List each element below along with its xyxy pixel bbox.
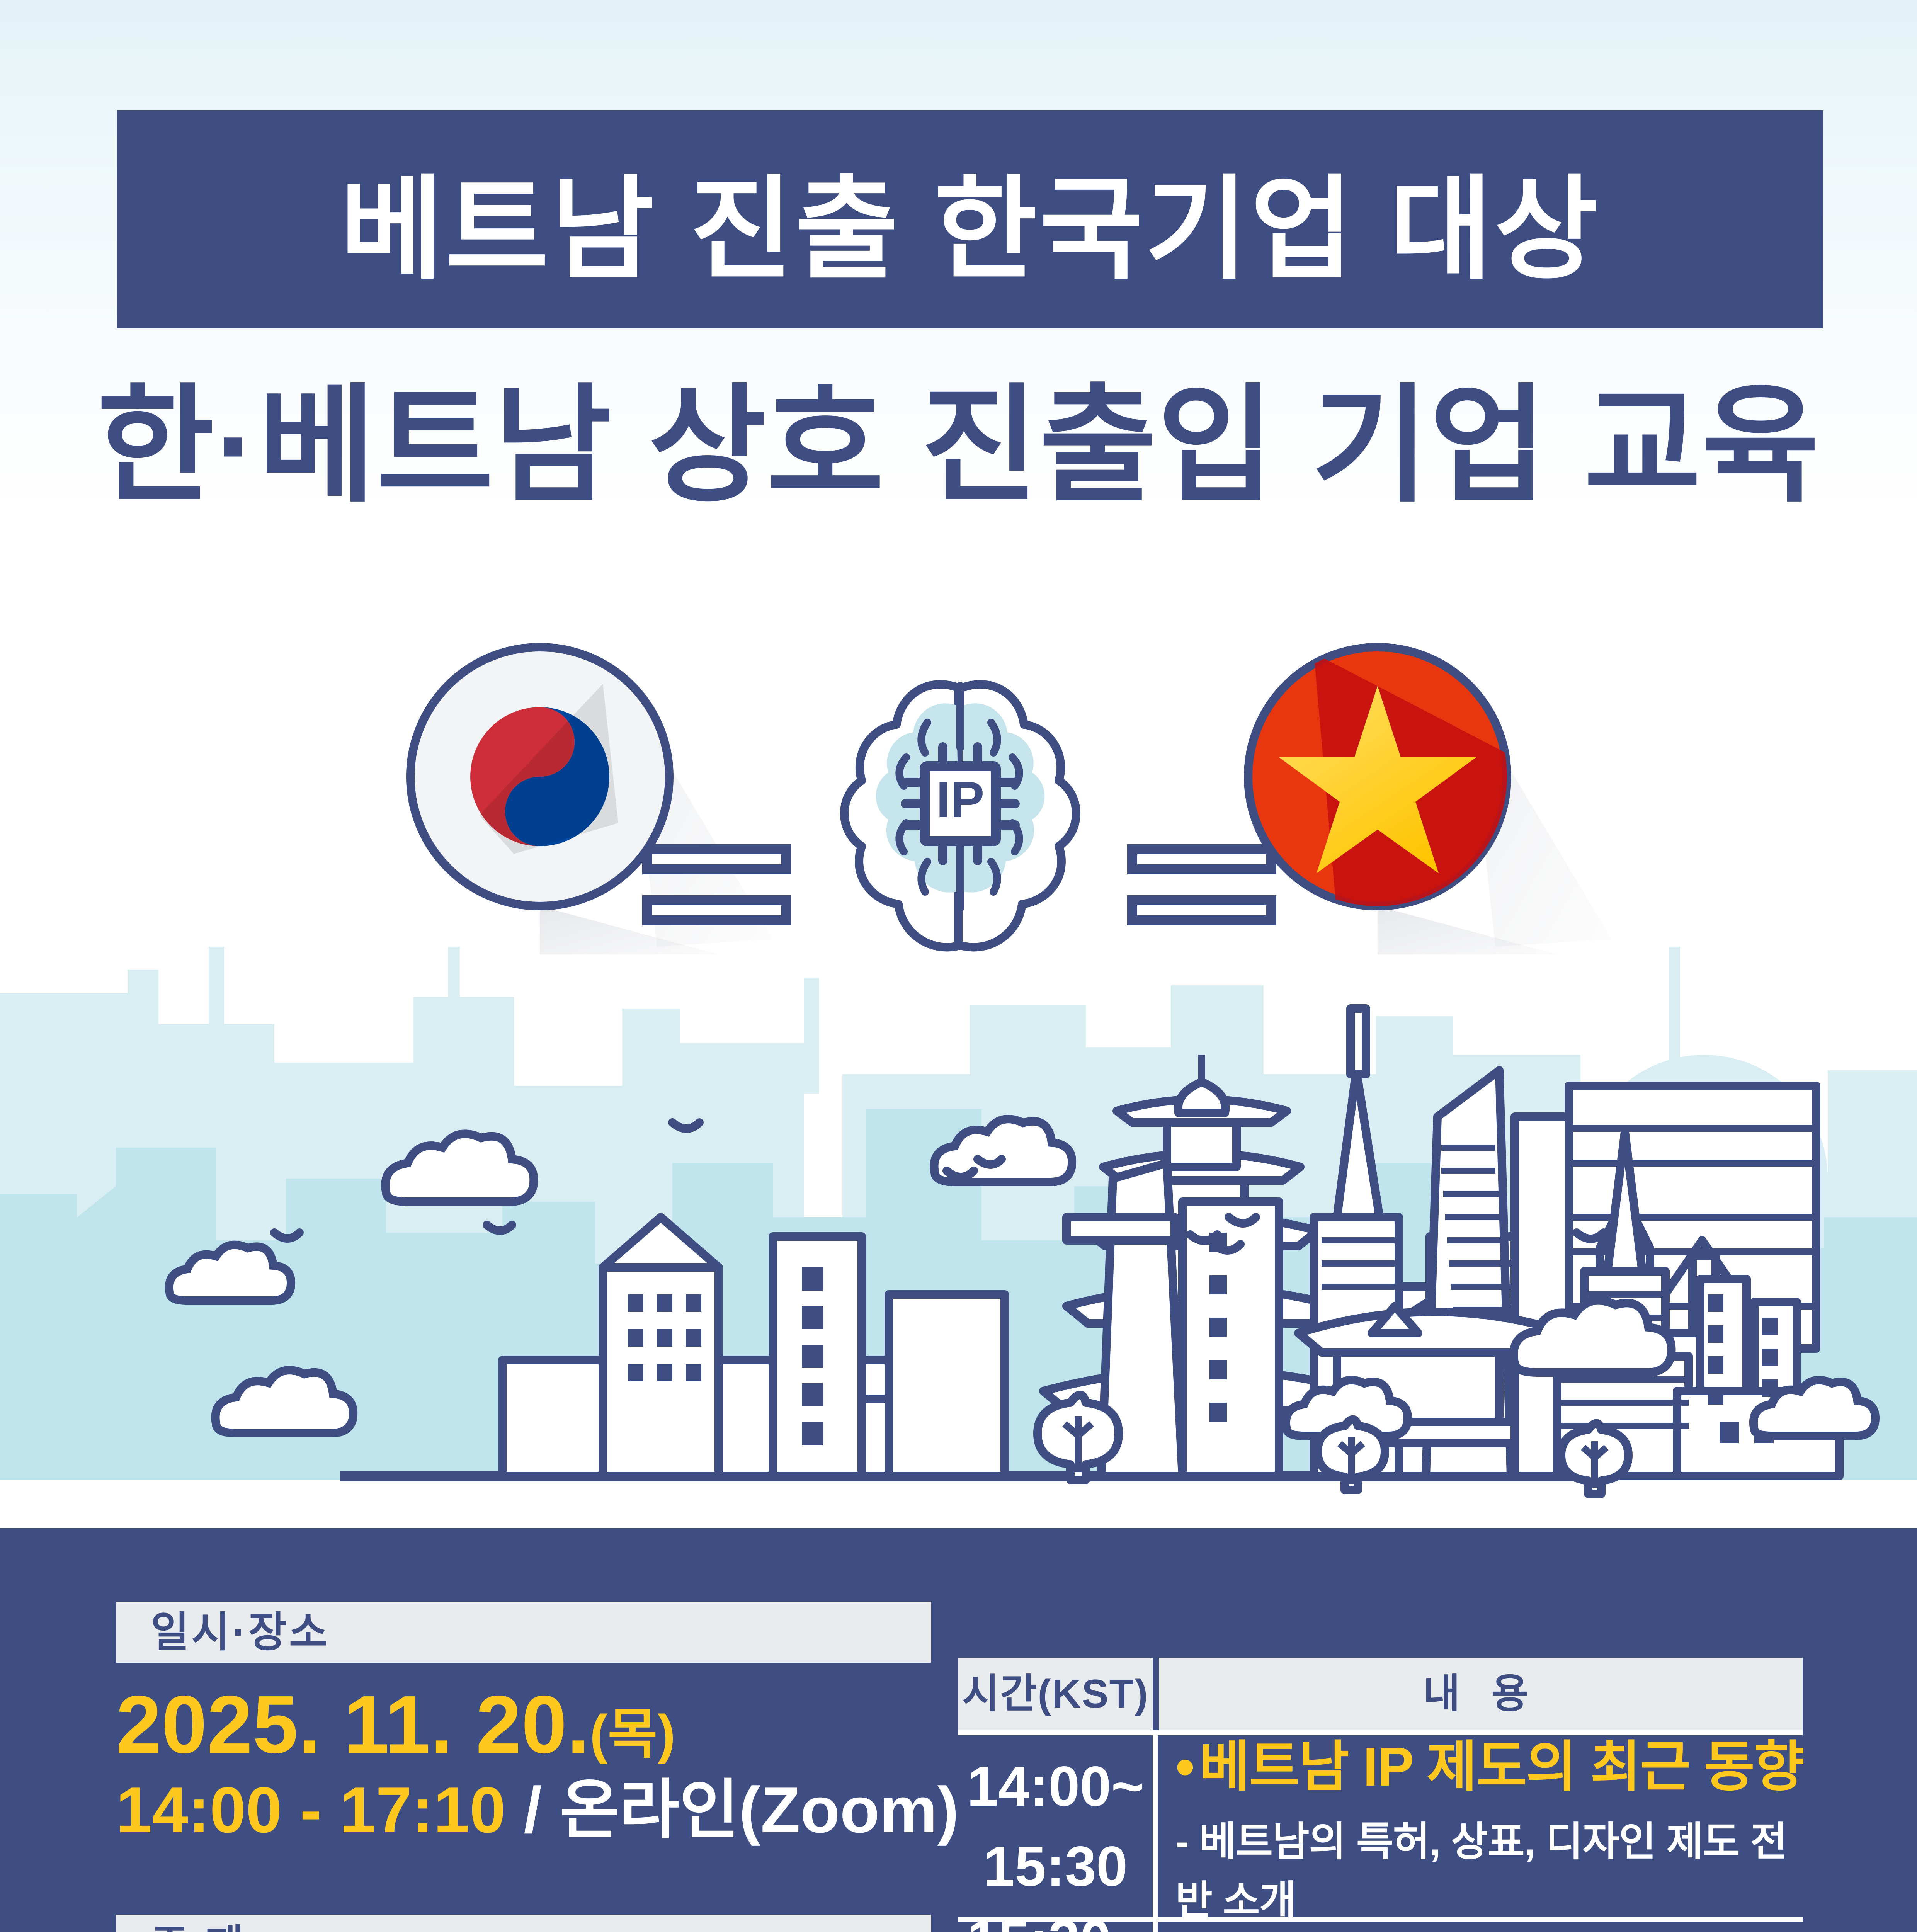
info-panel: 일시·장소 2025. 11. 20.(목) 14:00 - 17:10 / 온… [0, 1528, 1917, 1932]
left-info-column: 일시·장소 2025. 11. 20.(목) 14:00 - 17:10 / 온… [116, 1602, 931, 1932]
row1-session-detail: - 베트남의 특허, 상표, 디자인 제도 전반 소개 [1175, 1813, 1804, 1930]
event-time-place: 14:00 - 17:10 / 온라인(Zoom) [116, 1771, 931, 1849]
table-row: 15:30~ 15:40 휴 식 [958, 1922, 1803, 1932]
column-header-content: 내 용 [1159, 1658, 1803, 1730]
event-place-value: 온라인(Zoom) [560, 1774, 959, 1846]
ip-chip-icon: IP [905, 747, 1015, 861]
korea-taegeuk-flag-circle-icon [410, 647, 669, 906]
label-datetime-place: 일시·장소 [116, 1602, 931, 1663]
time-place-separator: / [524, 1774, 542, 1846]
row2-content: 휴 식 [1158, 1922, 1803, 1932]
label-topic: 주 제 [116, 1915, 931, 1932]
hero-illustration: IP [0, 607, 1917, 954]
row2-time: 15:30~ 15:40 [958, 1922, 1153, 1932]
row1-time-end: 15:30 [983, 1826, 1128, 1906]
sky-background [0, 0, 1917, 657]
event-date-value: 2025. 11. 20. [116, 1679, 590, 1770]
row1-session-title: •베트남 IP 제도의 최근 동향 [1175, 1722, 1804, 1801]
brain-with-ip-chip-icon: IP [844, 684, 1076, 947]
row2-time-start: 15:30~ [967, 1900, 1144, 1932]
event-day-of-week: (목) [590, 1704, 675, 1764]
row1-vertical-separator [1153, 1735, 1158, 1917]
page-title-line2: 한·베트남 상호 진출입 기업 교육 [0, 342, 1917, 527]
schedule-table: 시간(KST) 내 용 14:00~ 15:30 •베트남 IP 제도의 최근 … [958, 1658, 1803, 1932]
poster-root: 베트남 진출 한국기업 대상 한·베트남 상호 진출입 기업 교육 [0, 0, 1917, 1932]
event-date: 2025. 11. 20.(목) [116, 1681, 931, 1768]
table-row: 14:00~ 15:30 •베트남 IP 제도의 최근 동향 - 베트남의 특허… [958, 1735, 1803, 1917]
row1-time: 14:00~ 15:30 [958, 1735, 1153, 1917]
row1-time-start: 14:00~ [967, 1746, 1144, 1826]
row1-bullet-icon: • [1175, 1735, 1194, 1799]
event-time-value: 14:00 - 17:10 [116, 1774, 506, 1846]
vietnam-star-flag-circle-icon [1248, 647, 1507, 916]
row1-content: •베트남 IP 제도의 최근 동향 - 베트남의 특허, 상표, 디자인 제도 … [1158, 1735, 1817, 1917]
schedule-table-header: 시간(KST) 내 용 [958, 1658, 1803, 1730]
chip-label: IP [936, 771, 985, 828]
page-title-line1: 베트남 진출 한국기업 대상 [117, 110, 1823, 328]
row1-session-title-text: 베트남 IP 제도의 최근 동향 [1199, 1736, 1804, 1798]
column-header-time: 시간(KST) [958, 1658, 1153, 1730]
row2-vertical-separator [1153, 1922, 1158, 1932]
cityscape-illustration [0, 947, 1917, 1530]
header-column-gap [1153, 1658, 1159, 1730]
